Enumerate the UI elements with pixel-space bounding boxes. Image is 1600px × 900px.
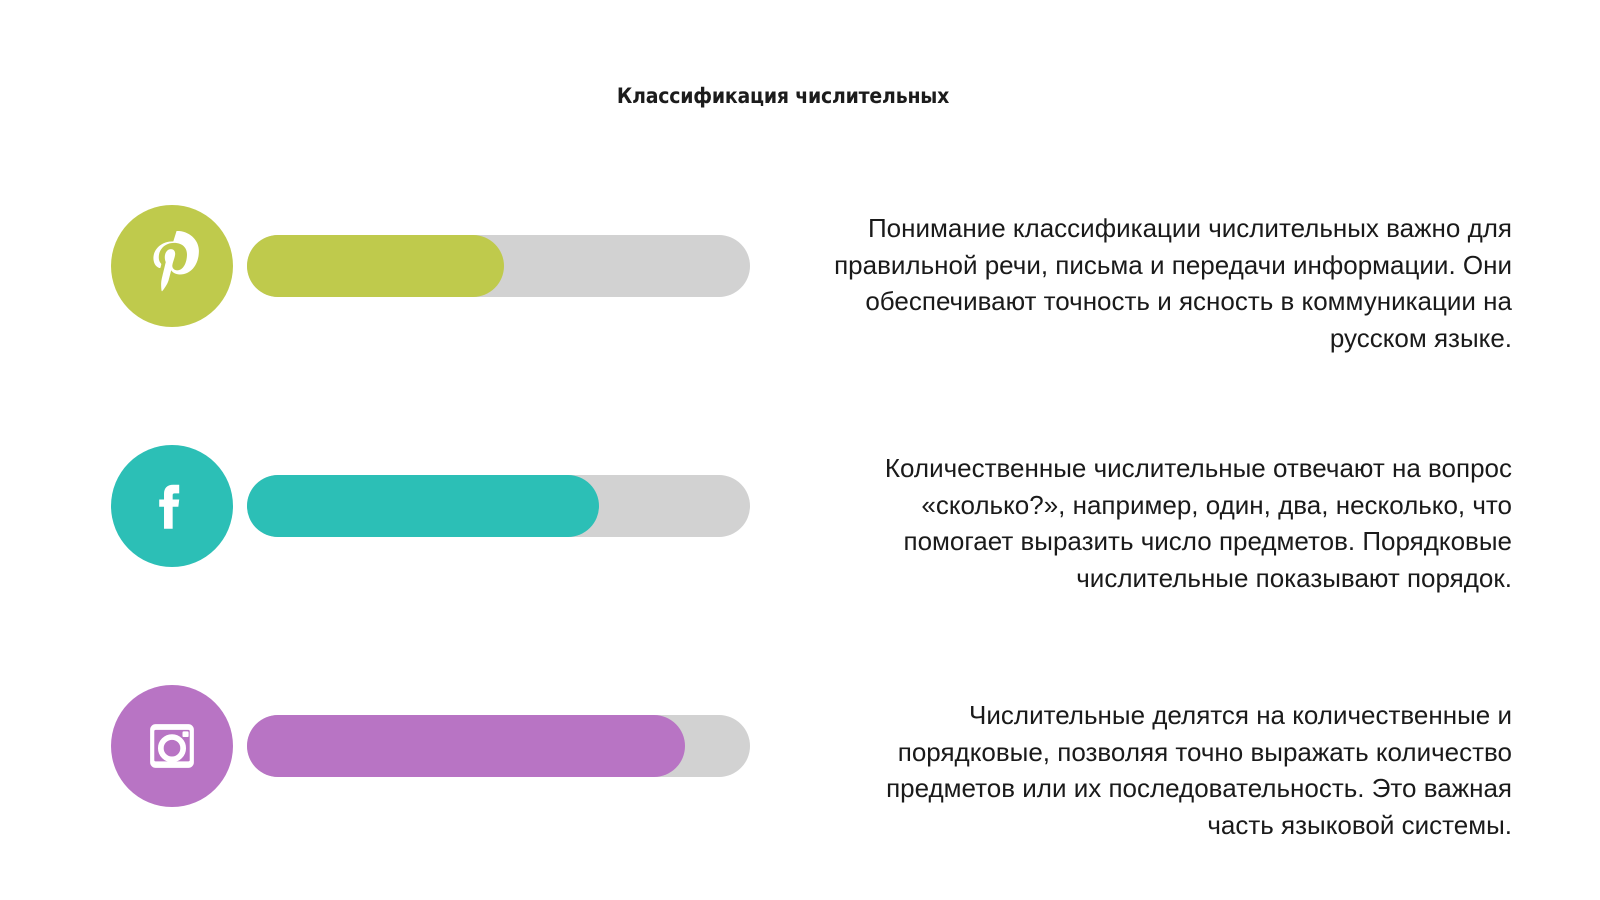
progress-rows: Понимание классификации числительных важ… (0, 0, 1600, 900)
facebook-icon-badge[interactable] (111, 445, 233, 567)
instagram-icon (137, 711, 207, 781)
infographic-canvas: Классификация числительных Понимание кла… (0, 0, 1600, 900)
progress-track[interactable] (247, 715, 750, 777)
row-description: Числительные делятся на количественные и… (815, 697, 1512, 843)
progress-fill (247, 715, 685, 777)
instagram-icon-badge[interactable] (111, 685, 233, 807)
row-description: Понимание классификации числительных важ… (815, 210, 1512, 356)
progress-track[interactable] (247, 475, 750, 537)
progress-track[interactable] (247, 235, 750, 297)
progress-fill (247, 235, 504, 297)
row-description: Количественные числительные отвечают на … (815, 450, 1512, 596)
progress-fill (247, 475, 599, 537)
facebook-icon (137, 471, 207, 541)
pinterest-icon-badge[interactable] (111, 205, 233, 327)
pinterest-icon (137, 231, 207, 301)
